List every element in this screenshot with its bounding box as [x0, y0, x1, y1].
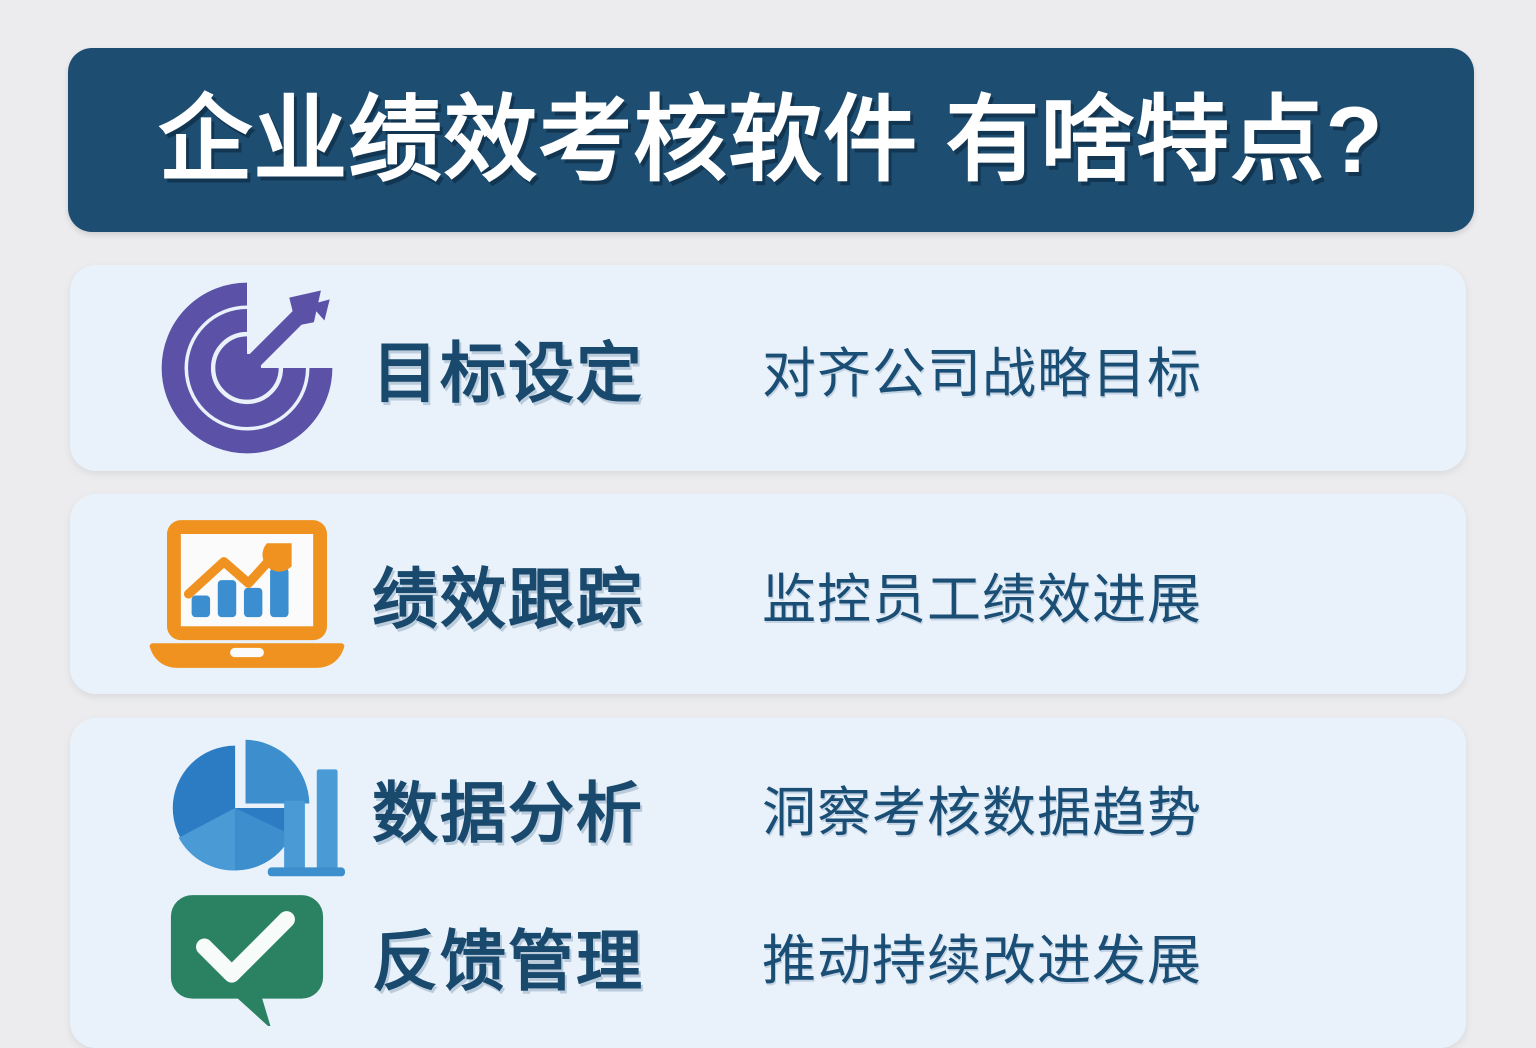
title-banner: 企业绩效考核软件 有啥特点?: [68, 48, 1474, 232]
feature-card-1: 目标设定 对齐公司战略目标: [70, 265, 1466, 471]
feature-description: 对齐公司战略目标: [762, 329, 1202, 408]
speech-bubble-check-icon: [122, 876, 372, 1036]
feature-description: 洞察考核数据趋势: [762, 768, 1202, 847]
feature-card-2: 绩效跟踪 监控员工绩效进展: [70, 494, 1466, 694]
pie-bar-chart-icon: [122, 728, 372, 888]
feature-heading: 绩效跟踪: [372, 546, 732, 642]
feature-heading: 目标设定: [372, 320, 732, 416]
feature-description: 监控员工绩效进展: [762, 555, 1202, 634]
page-title: 企业绩效考核软件 有啥特点?: [158, 91, 1384, 190]
feature-row-performance-tracking[interactable]: 绩效跟踪 监控员工绩效进展: [70, 501, 1466, 687]
feature-row-goal-setting[interactable]: 目标设定 对齐公司战略目标: [70, 275, 1466, 461]
laptop-chart-icon: [122, 514, 372, 674]
target-arrow-icon: [122, 288, 372, 448]
infographic-root: 企业绩效考核软件 有啥特点? 目标设定 对齐公司战略目标: [0, 0, 1536, 1024]
feature-heading: 数据分析: [372, 760, 732, 856]
feature-description: 推动持续改进发展: [762, 916, 1202, 995]
feature-heading: 反馈管理: [372, 908, 732, 1004]
feature-card-3: 数据分析 洞察考核数据趋势 反馈管理 推动持续改进发展: [70, 718, 1466, 1048]
feature-row-feedback-management[interactable]: 反馈管理 推动持续改进发展: [70, 868, 1466, 1043]
